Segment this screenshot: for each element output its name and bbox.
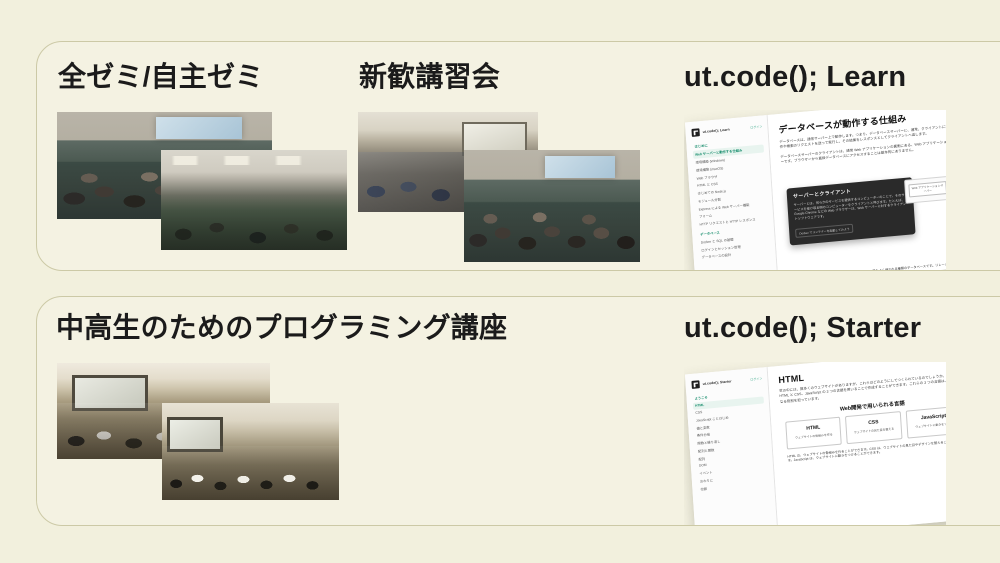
language-card: HTML ウェブサイトの骨組みを作る <box>785 417 842 449</box>
starter-login-link[interactable]: ログイン <box>750 377 762 382</box>
learn-login-link[interactable]: ログイン <box>750 125 762 130</box>
photo-school-group-work <box>162 403 339 500</box>
utcode-logo-icon <box>691 380 699 389</box>
learn-footer-text: データベースの中でも、リレーショナルデータベースは、最もよく使われる種類のデータ… <box>786 260 946 270</box>
learn-brand: ut.code(); Learn ログイン <box>691 123 762 137</box>
diagram-row: Web アプリケーションサーバー <box>908 178 946 199</box>
section-heading-starter: ut.code(); Starter <box>684 313 921 345</box>
starter-sidebar[interactable]: ut.code(); Starter ログイン ようこそ HTML CSS Ja… <box>685 367 779 525</box>
screenshot-utcode-learn: ut.code(); Learn ログイン はじめに Web サーバーと動作する… <box>684 110 946 270</box>
photo-lecture-hall-wide-view <box>161 150 347 250</box>
learn-brand-text: ut.code(); Learn <box>702 127 729 133</box>
section-heading-zemi: 全ゼミ/自主ゼミ <box>58 62 263 93</box>
language-card-title: JavaScript <box>910 412 946 422</box>
starter-brand: ut.code(); Starter ログイン <box>691 375 762 389</box>
language-card-desc: ウェブサイトの骨組みを作る <box>790 432 837 441</box>
photo-collage-shinkan <box>358 112 640 262</box>
learn-diagram: Web アプリケーションサーバー <box>904 174 946 203</box>
slide-canvas: 全ゼミ/自主ゼミ 新歓講習会 ut.code(); Learn ut.code(… <box>0 0 1000 563</box>
photo-classroom-projector-session <box>464 150 640 262</box>
language-card-desc: ウェブサイトの見た目を整える <box>850 427 897 436</box>
section-heading-learn: ut.code(); Learn <box>684 62 906 94</box>
starter-article: HTML 世の中には、数多くのウェブサイトがありますが、これらはどのようにしてつ… <box>768 362 946 525</box>
language-card-desc: ウェブサイトに動きをつける <box>910 421 946 430</box>
language-card: JavaScript ウェブサイトに動きをつける <box>905 406 946 438</box>
diagram-node: Web アプリケーションサーバー <box>908 181 946 198</box>
language-card: CSS ウェブサイトの見た目を整える <box>845 411 902 443</box>
learn-sidebar[interactable]: ut.code(); Learn ログイン はじめに Web サーバーと動作する… <box>685 115 779 270</box>
learn-page: ut.code(); Learn ログイン はじめに Web サーバーと動作する… <box>685 110 946 270</box>
section-heading-shinkan: 新歓講習会 <box>359 62 500 93</box>
section-heading-chukosei: 中高生のためのプログラミング講座 <box>56 313 507 344</box>
screenshot-utcode-starter: ut.code(); Starter ログイン ようこそ HTML CSS Ja… <box>684 362 946 525</box>
starter-brand-text: ut.code(); Starter <box>702 379 731 386</box>
learn-article: データベースが動作する仕組み データベースは、通常サーバー上で動作します。つまり… <box>768 110 946 270</box>
starter-page: ut.code(); Starter ログイン ようこそ HTML CSS Ja… <box>685 362 946 525</box>
callout-button[interactable]: Docker でコンテナーを起動してみよう <box>795 224 854 238</box>
photo-collage-chukosei <box>57 363 339 500</box>
learn-callout-server-client: サーバーとクライアント サーバーとは、何らかのサービスを提供するコンピューターの… <box>787 177 916 245</box>
utcode-logo-icon <box>691 128 699 137</box>
photo-collage-zemi <box>57 112 347 250</box>
